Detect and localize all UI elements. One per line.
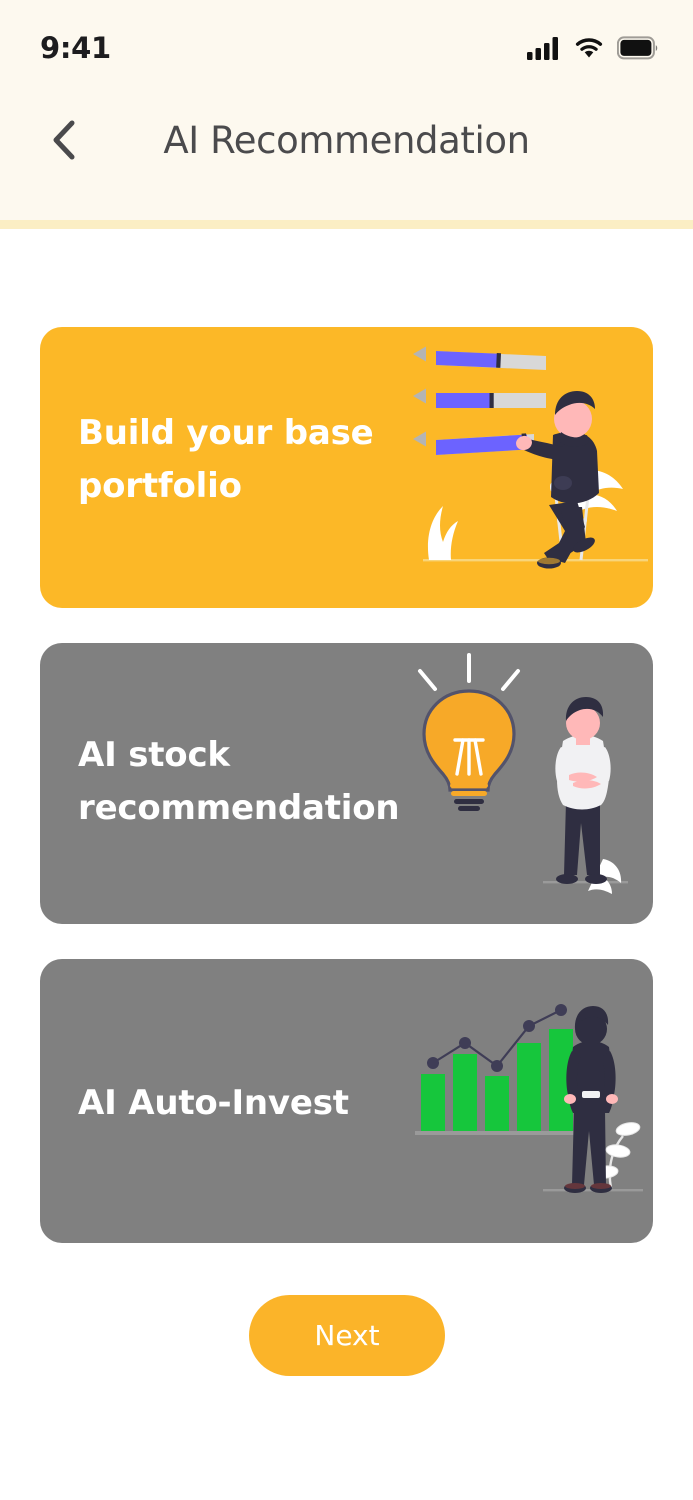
cellular-signal-icon bbox=[527, 36, 561, 60]
person-figure bbox=[514, 391, 599, 569]
progress-bar-row-2 bbox=[413, 389, 546, 409]
chart-baseline bbox=[415, 1131, 575, 1135]
chart-bars bbox=[421, 1029, 573, 1131]
wifi-icon bbox=[573, 36, 605, 60]
next-button[interactable]: Next bbox=[249, 1295, 445, 1376]
person-on-stool-with-progress-bars-illustration bbox=[403, 327, 653, 608]
navigation-bar: AI Recommendation bbox=[0, 100, 693, 180]
bar-chart-with-standing-person-illustration bbox=[403, 959, 653, 1243]
header-divider bbox=[0, 220, 693, 229]
back-button[interactable] bbox=[38, 114, 90, 166]
page-title: AI Recommendation bbox=[0, 119, 693, 162]
lightbulb-with-standing-person-illustration bbox=[393, 643, 653, 924]
chart-trend-line bbox=[427, 1004, 567, 1072]
status-bar: 9:41 bbox=[0, 22, 693, 74]
ai-recommendation-screen: 9:41 bbox=[0, 0, 693, 1500]
progress-bar-row-1 bbox=[413, 347, 546, 371]
option-card-ai-auto-invest[interactable]: AI Auto-Invest bbox=[40, 959, 653, 1243]
plant-leaf-left bbox=[428, 506, 458, 560]
status-icons bbox=[527, 36, 659, 60]
battery-full-icon bbox=[617, 36, 659, 60]
card-title: Build your base portfolio bbox=[78, 407, 408, 512]
option-card-ai-stock-recommendation[interactable]: AI stock recommendation bbox=[40, 643, 653, 924]
card-title: AI Auto-Invest bbox=[78, 1077, 408, 1130]
option-card-build-base-portfolio[interactable]: Build your base portfolio bbox=[40, 327, 653, 608]
progress-bar-row-3 bbox=[413, 432, 534, 456]
person-figure bbox=[555, 697, 621, 894]
light-rays bbox=[420, 655, 518, 689]
header-bar: 9:41 bbox=[0, 0, 693, 220]
card-title: AI stock recommendation bbox=[78, 729, 408, 834]
chevron-left-icon bbox=[51, 119, 77, 161]
status-time: 9:41 bbox=[40, 31, 111, 65]
bulb-base bbox=[450, 783, 488, 811]
